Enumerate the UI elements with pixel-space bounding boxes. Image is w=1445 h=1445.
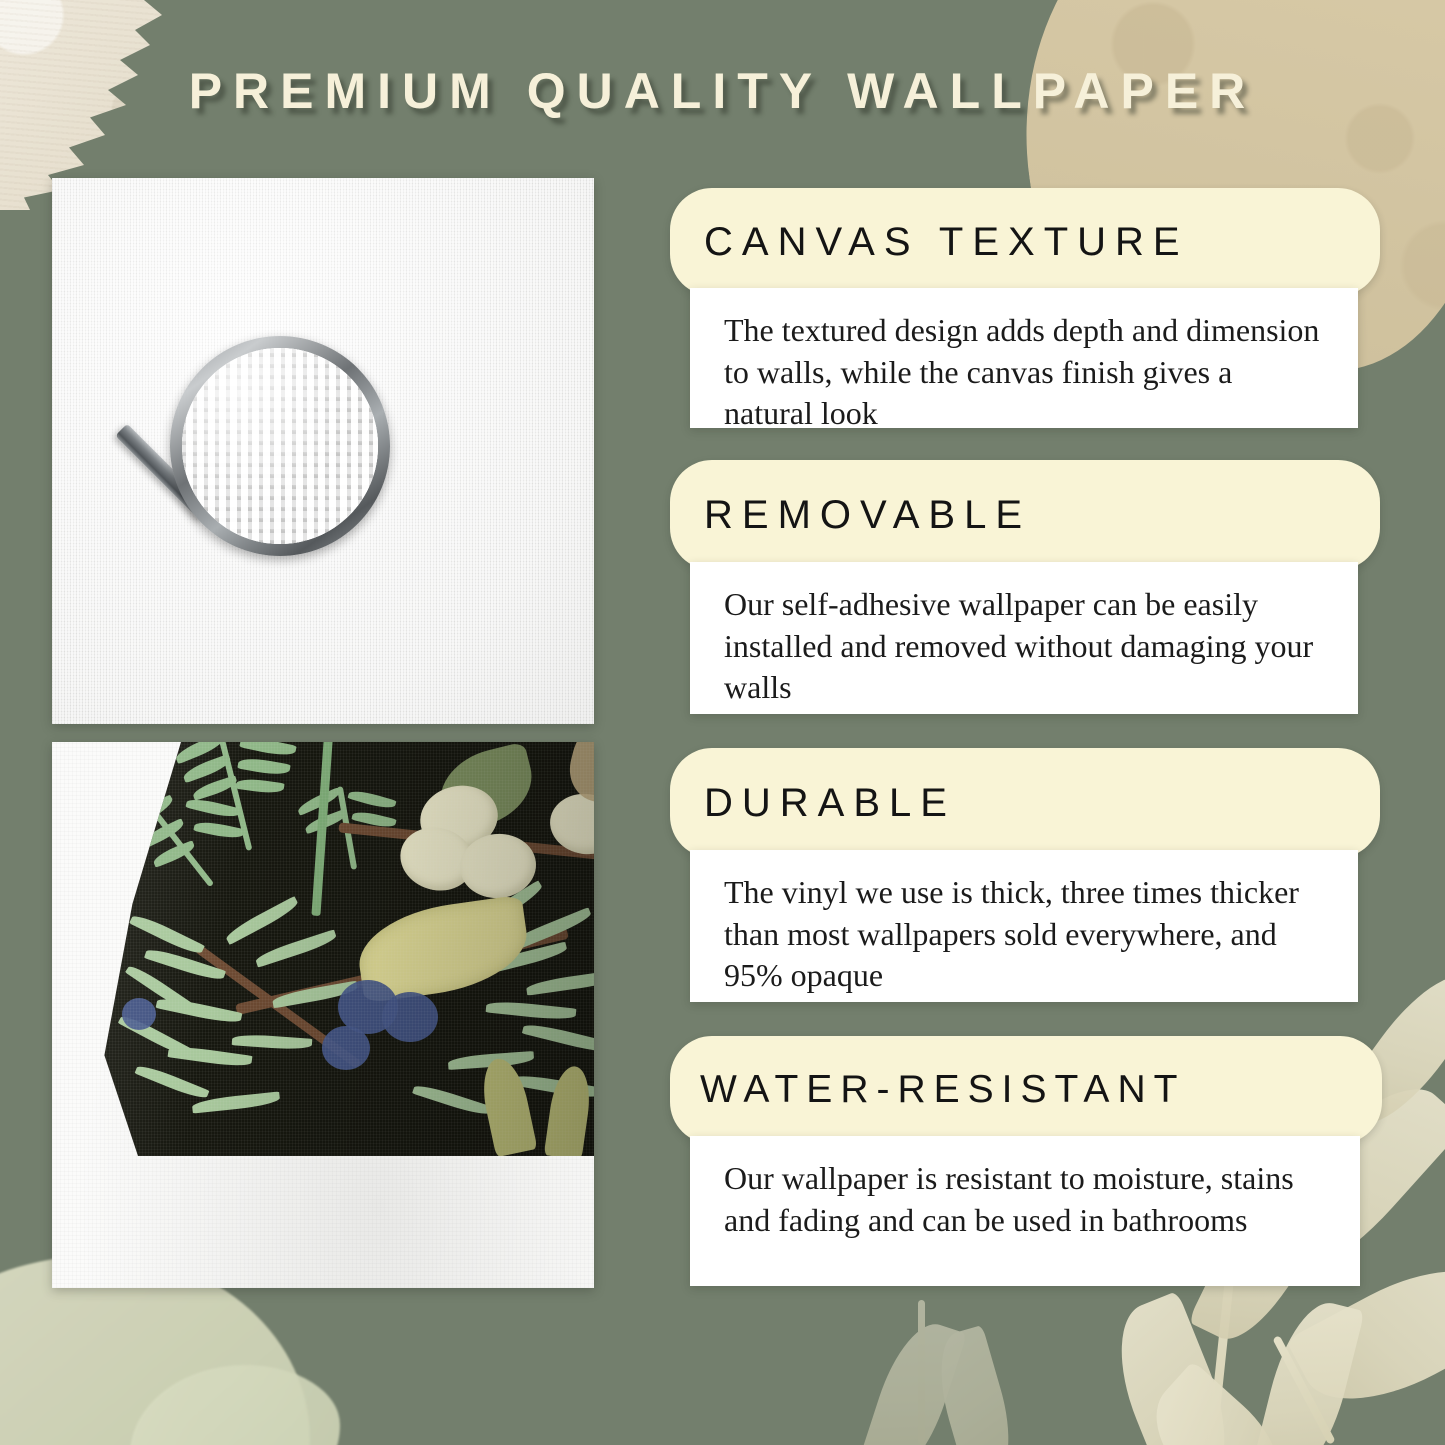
feature-description-durable: The vinyl we use is thick, three times t… [690,850,1358,1017]
magnifier-lens [182,348,378,544]
page-title: PREMIUM QUALITY WALLPAPER [0,62,1445,120]
feature-heading-pill-water-resistant: WATER-RESISTANT [670,1036,1382,1144]
feature-body-removable: Our self-adhesive wallpaper can be easil… [690,562,1358,714]
feature-heading-durable: DURABLE [670,781,956,826]
seed-cone [563,742,594,812]
magnifier-icon [170,336,390,556]
canvas-texture-photo [52,178,594,724]
feature-heading-pill-canvas-texture: CANVAS TEXTURE [670,188,1380,296]
feature-card-durable: DURABLE The vinyl we use is thick, three… [670,748,1380,1010]
feature-card-water-resistant: WATER-RESISTANT Our wallpaper is resista… [670,1036,1382,1288]
magnifier-bezel [182,348,378,544]
pale-yellow-leaf [353,895,533,1004]
feature-description-water-resistant: Our wallpaper is resistant to moisture, … [690,1136,1360,1261]
feature-heading-water-resistant: WATER-RESISTANT [670,1068,1185,1112]
feature-body-durable: The vinyl we use is thick, three times t… [690,850,1358,1002]
feature-card-canvas-texture: CANVAS TEXTURE The textured design adds … [670,188,1380,438]
olive-leaf [431,742,542,835]
wallpaper-roll-photo [52,742,594,1288]
feature-heading-canvas-texture: CANVAS TEXTURE [670,220,1189,265]
feature-heading-pill-removable: REMOVABLE [670,460,1380,570]
pale-blob-bottom-left-small [130,1365,340,1445]
feature-card-removable: REMOVABLE Our self-adhesive wallpaper ca… [670,460,1380,722]
feature-description-removable: Our self-adhesive wallpaper can be easil… [690,562,1358,729]
feature-body-water-resistant: Our wallpaper is resistant to moisture, … [690,1136,1360,1286]
feature-description-canvas-texture: The textured design adds depth and dimen… [690,288,1358,455]
infographic-canvas: PREMIUM QUALITY WALLPAPER [0,0,1445,1445]
feature-body-canvas-texture: The textured design adds depth and dimen… [690,288,1358,428]
feature-heading-pill-durable: DURABLE [670,748,1380,858]
feature-heading-removable: REMOVABLE [670,493,1031,538]
